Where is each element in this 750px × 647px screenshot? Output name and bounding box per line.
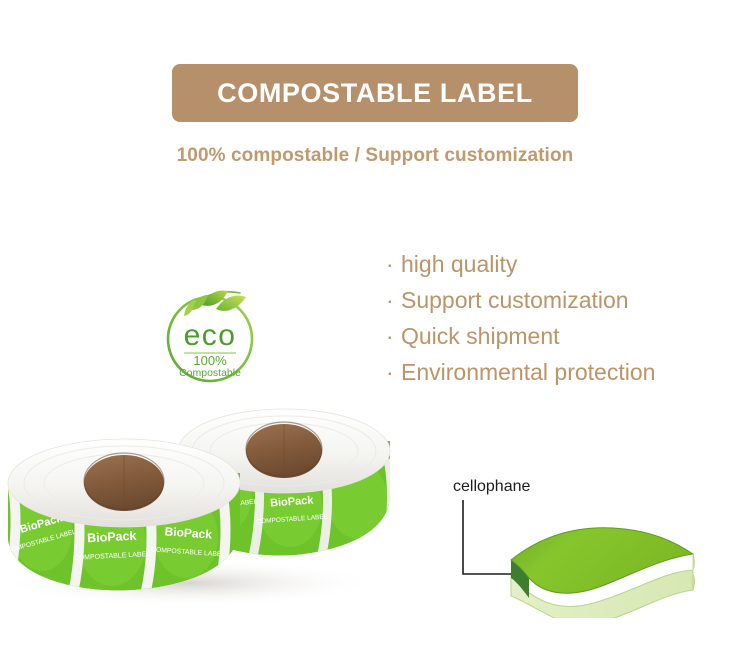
- label-rolls-photo: BioPack COMPOSTABLE LABEL BioPack COMPOS…: [0, 355, 410, 615]
- bullet-dot-icon: ·: [386, 282, 401, 318]
- feature-label: Quick shipment: [401, 318, 716, 354]
- feature-label: high quality: [401, 246, 716, 282]
- list-item: · high quality: [386, 246, 716, 282]
- cellophane-diagram: [445, 478, 745, 618]
- leaf-branch-icon: [184, 291, 246, 316]
- feature-list: · high quality · Support customization ·…: [386, 246, 716, 390]
- list-item: · Quick shipment: [386, 318, 716, 354]
- page-title-banner: COMPOSTABLE LABEL: [172, 64, 578, 122]
- page-subtitle: 100% compostable / Support customization: [0, 145, 750, 167]
- feature-label: Environmental protection: [401, 354, 716, 390]
- page-title: COMPOSTABLE LABEL: [217, 78, 533, 109]
- cellophane-right-edge: [693, 554, 695, 590]
- list-item: · Environmental protection: [386, 354, 716, 390]
- svg-text:BioPack: BioPack: [87, 529, 137, 546]
- bullet-dot-icon: ·: [386, 246, 401, 282]
- feature-label: Support customization: [401, 282, 716, 318]
- callout-leader-line: [463, 500, 517, 574]
- badge-eco-text: eco: [184, 319, 237, 352]
- list-item: · Support customization: [386, 282, 716, 318]
- bullet-dot-icon: ·: [386, 318, 401, 354]
- cellophane-callout: cellophane: [445, 478, 745, 618]
